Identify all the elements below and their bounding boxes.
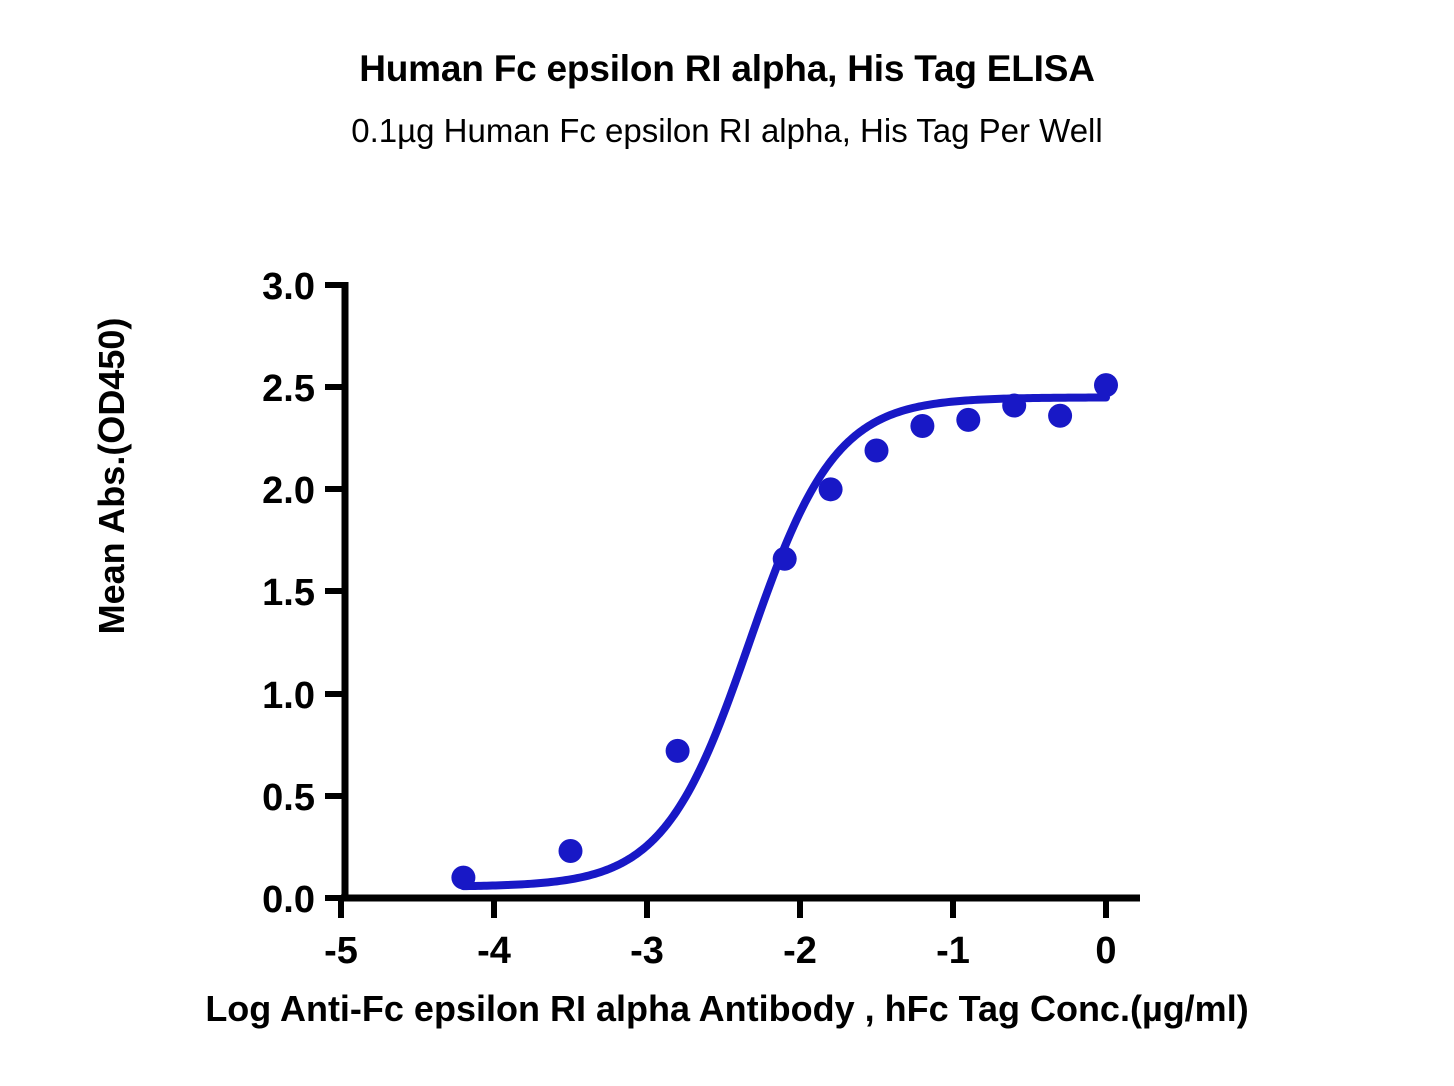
- x-tick-labels: -5 -4 -3 -2 -1 0: [324, 930, 1116, 972]
- x-axis-title: Log Anti-Fc epsilon RI alpha Antibody , …: [0, 988, 1454, 1030]
- y-tick-label: 0.0: [262, 879, 315, 921]
- data-point: [773, 547, 797, 571]
- data-point: [1094, 373, 1118, 397]
- y-tick-label: 3.0: [262, 266, 315, 308]
- x-tick-label: -3: [630, 930, 664, 972]
- data-point: [819, 477, 843, 501]
- data-point: [1048, 404, 1072, 428]
- y-tick-label: 1.0: [262, 675, 315, 717]
- data-point: [865, 439, 889, 463]
- plot-area: 3.0 2.5 2.0 1.5 1.0 0.5 0.0 -5 -4 -3 -2 …: [0, 0, 1454, 1086]
- data-point: [1002, 394, 1026, 418]
- data-point: [559, 839, 583, 863]
- data-point: [666, 739, 690, 763]
- data-point: [956, 408, 980, 432]
- x-tick-label: -4: [477, 930, 511, 972]
- y-tick-label: 0.5: [262, 777, 315, 819]
- x-tick-label: -2: [783, 930, 817, 972]
- y-tick-label: 2.5: [262, 368, 315, 410]
- y-tick-labels: 3.0 2.5 2.0 1.5 1.0 0.5 0.0: [262, 266, 315, 921]
- y-tick-label: 1.5: [262, 572, 315, 614]
- data-point-group: [451, 373, 1118, 889]
- y-axis-title: Mean Abs.(OD450): [91, 246, 133, 706]
- elisa-chart-figure: Human Fc epsilon RI alpha, His Tag ELISA…: [0, 0, 1454, 1086]
- data-point: [910, 414, 934, 438]
- y-tick-label: 2.0: [262, 470, 315, 512]
- x-tick-label: -1: [936, 930, 970, 972]
- fit-curve: [463, 398, 1106, 887]
- x-tick-label: 0: [1095, 930, 1116, 972]
- x-tick-label: -5: [324, 930, 358, 972]
- data-point: [451, 866, 475, 890]
